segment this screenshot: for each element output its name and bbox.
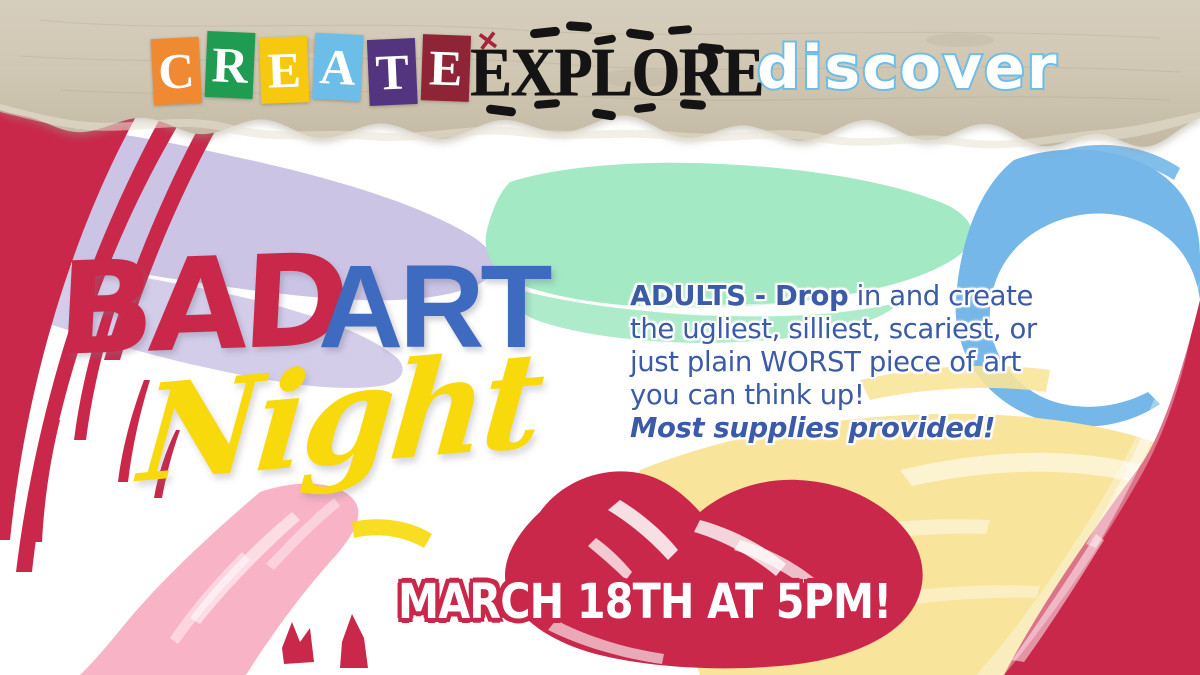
create-letter-6: E [421,34,471,102]
explore-dash-2 [566,21,593,32]
description-line-1: ADULTS - Drop in and create [630,280,1140,313]
discover-wordmark: discover [757,38,1058,98]
title-night: Night [135,334,545,502]
explore-x-mark: × [476,23,500,59]
create-letter-4: A [312,33,363,101]
pink-brush [80,484,358,675]
description-line-5: Most supplies provided! [630,412,1140,445]
description-line-4: you can think up! [630,379,1140,412]
gold-accent-stroke [352,519,432,548]
event-description: ADULTS - Drop in and create the ugliest,… [630,280,1140,445]
create-letter-2: R [205,31,256,99]
event-date-text: MARCH 18TH AT 5PM! [398,578,891,626]
header-wordmarks: C R E A T E EXPLORE × discover [0,0,1200,140]
description-line-1-part-2: in and create [848,280,1033,312]
explore-dash-11 [680,99,707,110]
poster-canvas: C R E A T E EXPLORE × discover BAD ART [0,0,1200,675]
create-letter-5: T [367,38,418,106]
description-line-2: the ugliest, silliest, scariest, or [630,313,1140,346]
description-line-1-part-1: ADULTS - Drop [630,280,848,312]
crimson-splash [282,471,923,668]
description-line-3: just plain WORST piece of art [630,346,1140,379]
create-wordmark: C R E A T E [152,32,476,118]
create-letter-3: E [259,36,309,104]
create-letter-1: C [151,37,202,105]
